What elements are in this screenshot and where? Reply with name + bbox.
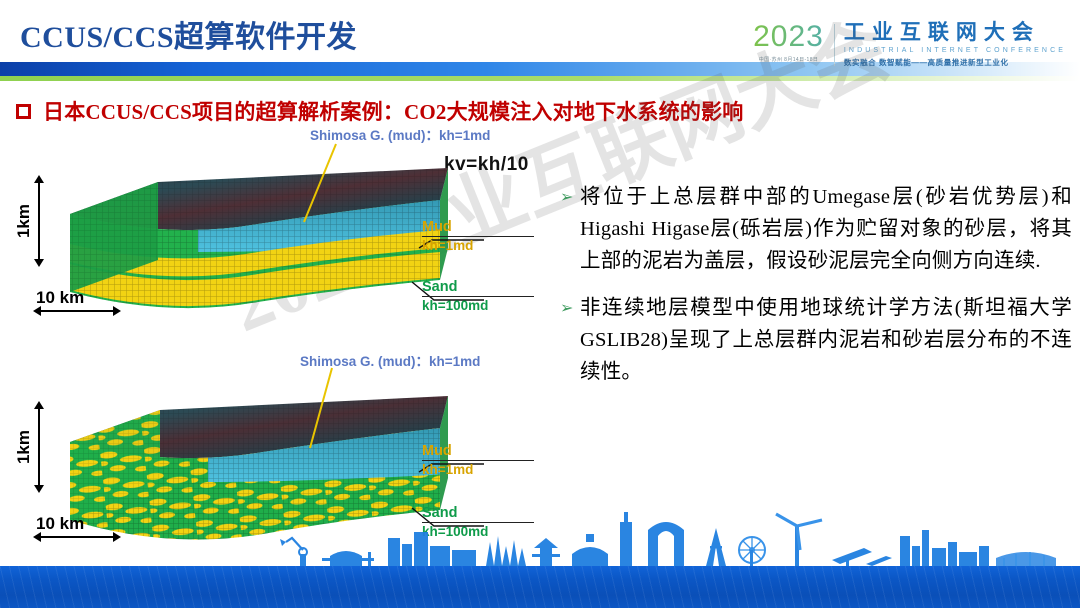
logo-name-group: 工业互联网大会 INDUSTRIAL INTERNET CONFERENCE 数… bbox=[844, 22, 1066, 68]
figure1-horizontal-scale: 10 km bbox=[36, 288, 114, 312]
arrow-bullet-icon: ➢ bbox=[560, 293, 580, 388]
conference-logo: 2023 中国·苏州 8月14日-18日 工业互联网大会 INDUSTRIAL … bbox=[753, 22, 1066, 68]
figure1-callout-mud-name: Mud bbox=[422, 220, 534, 235]
bullet-item-2: ➢ 非连续地层模型中使用地球统计学方法(斯坦福大学GSLIB28)呈现了上总层群… bbox=[560, 293, 1072, 388]
logo-year-subtitle: 中国·苏州 8月14日-18日 bbox=[759, 56, 819, 63]
figure1-vertical-scale: 1km bbox=[14, 182, 40, 260]
bullet-item-1-text: 将位于上总层群中部的Umegase层(砂岩优势层)和Higashi Higase… bbox=[580, 182, 1072, 277]
bullet-item-1: ➢ 将位于上总层群中部的Umegase层(砂岩优势层)和Higashi Higa… bbox=[560, 182, 1072, 277]
footer-skyline-graphic bbox=[0, 502, 1080, 566]
logo-chinese-name: 工业互联网大会 bbox=[844, 22, 1066, 44]
section-heading-text: 日本CCUS/CCS项目的超算解析案例：CO2大规模注入对地下水系统的影响 bbox=[43, 96, 743, 126]
page-title: CCUS/CCS超算软件开发 bbox=[20, 12, 357, 56]
figure2-vertical-scale: 1km bbox=[14, 408, 40, 486]
section-heading: 日本CCUS/CCS项目的超算解析案例：CO2大规模注入对地下水系统的影响 bbox=[16, 96, 743, 126]
figure1-vertical-arrow-icon bbox=[38, 182, 40, 260]
logo-year-group: 2023 中国·苏州 8月14日-18日 bbox=[753, 22, 834, 63]
figure1-top-label: Shimosa G. (mud)：kh=1md bbox=[310, 124, 490, 144]
footer-band bbox=[0, 566, 1080, 608]
figure2-top-label: Shimosa G. (mud)：kh=1md bbox=[300, 350, 480, 370]
figure1-formula-label: kv=kh/10 bbox=[444, 154, 529, 176]
figure1-callout-sand-rule bbox=[422, 296, 534, 297]
figure1-horizontal-arrow-icon bbox=[40, 310, 114, 312]
figure1-callout-mud: Mud kh=1md bbox=[422, 220, 534, 253]
figure2-vertical-arrow-icon bbox=[38, 408, 40, 486]
figure1-callout-sand-value: kh=100md bbox=[422, 299, 534, 313]
logo-tagline: 数实融合 数智赋能——高质量推进新型工业化 bbox=[844, 57, 1066, 68]
figure2-callout-mud-value: kh=1md bbox=[422, 463, 534, 477]
figure1-callout-mud-rule bbox=[422, 236, 534, 237]
figure2-callout-mud-name: Mud bbox=[422, 444, 534, 459]
figure1-vertical-scale-label: 1km bbox=[14, 204, 34, 238]
figure1-callout-mud-value: kh=1md bbox=[422, 239, 534, 253]
logo-english-name: INDUSTRIAL INTERNET CONFERENCE bbox=[844, 47, 1066, 54]
arrow-bullet-icon: ➢ bbox=[560, 182, 580, 277]
square-bullet-icon bbox=[16, 104, 31, 119]
figure2-callout-mud: Mud kh=1md bbox=[422, 444, 534, 477]
logo-year: 2023 bbox=[753, 22, 824, 52]
figure1-callout-sand-name: Sand bbox=[422, 280, 534, 295]
bullet-list: ➢ 将位于上总层群中部的Umegase层(砂岩优势层)和Higashi Higa… bbox=[560, 182, 1072, 405]
figure2-callout-mud-rule bbox=[422, 460, 534, 461]
figure-continuous-layer-model: Shimosa G. (mud)：kh=1md kv=kh/10 bbox=[14, 130, 554, 340]
slide-root: CCUS/CCS超算软件开发 2023 中国·苏州 8月14日-18日 工业互联… bbox=[0, 0, 1080, 608]
bullet-item-2-text: 非连续地层模型中使用地球统计学方法(斯坦福大学GSLIB28)呈现了上总层群内泥… bbox=[580, 293, 1072, 388]
logo-separator bbox=[834, 24, 835, 66]
figure2-vertical-scale-label: 1km bbox=[14, 430, 34, 464]
figure1-horizontal-scale-label: 10 km bbox=[36, 288, 114, 308]
figure1-callout-sand: Sand kh=100md bbox=[422, 280, 534, 313]
header-green-rule bbox=[0, 76, 1080, 81]
